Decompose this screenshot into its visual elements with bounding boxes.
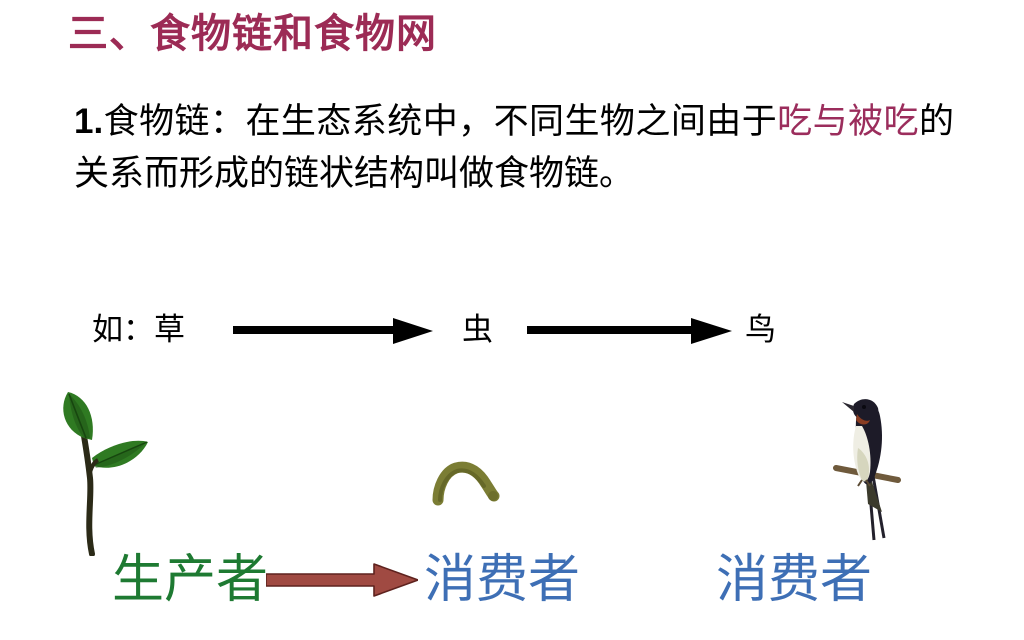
role-label-producer: 生产者 xyxy=(112,548,268,613)
caterpillar-image xyxy=(432,458,500,506)
plant-seedling-image xyxy=(52,386,172,556)
definition-number: 1. xyxy=(74,102,103,141)
role-label-consumer-first: 消费者 xyxy=(424,548,580,613)
definition-term: 食物链： xyxy=(103,102,245,141)
definition-text-before: 在生态系统中，不同生物之间由于 xyxy=(245,102,777,141)
slide-canvas: 三、食物链和食物网 1.食物链：在生态系统中，不同生物之间由于吃与被吃的关系而形… xyxy=(0,0,1024,640)
role-label-consumer-second: 消费者 xyxy=(716,548,872,613)
swallow-bird-image xyxy=(828,392,920,542)
role-labels-row: 生产者 消费者 消费者 xyxy=(0,548,1024,640)
chain-item-bird: 鸟 xyxy=(745,304,776,349)
red-arrow-producer-to-consumer xyxy=(266,560,418,600)
page-title: 三、食物链和食物网 xyxy=(68,12,437,56)
chain-item-insect: 虫 xyxy=(462,304,493,349)
chain-label-grass: 如：草 xyxy=(92,304,185,349)
black-arrow-insect-to-bird xyxy=(527,318,732,344)
example-chain-row: 如：草 虫 鸟 xyxy=(0,300,1024,360)
black-arrow-grass-to-insect xyxy=(233,318,433,344)
definition-paragraph: 1.食物链：在生态系统中，不同生物之间由于吃与被吃的关系而形成的链状结构叫做食物… xyxy=(74,96,954,200)
definition-highlight: 吃与被吃 xyxy=(777,102,919,141)
